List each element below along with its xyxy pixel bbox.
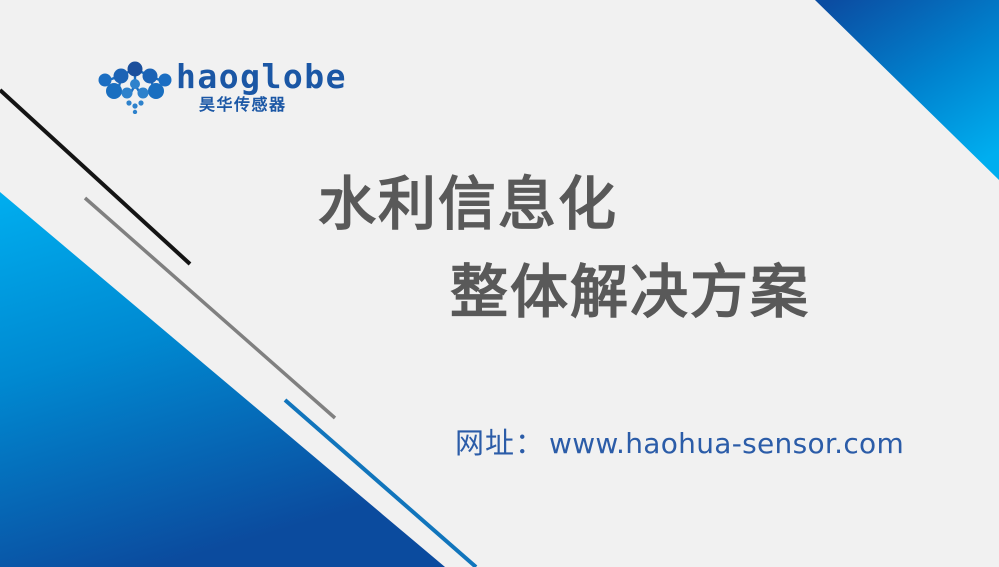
haoglobe-network-dots-icon (96, 60, 174, 114)
slide-root: haoglobe 昊华传感器 水利信息化 整体解决方案 网址：www.haohu… (0, 0, 999, 567)
website-url[interactable]: www.haohua-sensor.com (549, 427, 904, 460)
website-label: 网址： (455, 426, 545, 460)
page-title: 水利信息化 整体解决方案 (0, 160, 999, 336)
logo-wordmark: haoglobe (176, 58, 347, 96)
company-logo[interactable]: haoglobe 昊华传感器 (96, 58, 326, 120)
logo-subtitle-chinese: 昊华传感器 (199, 95, 287, 115)
title-line-2: 整体解决方案 (450, 248, 999, 336)
top-right-blue-triangle (815, 0, 999, 180)
title-line-1: 水利信息化 (318, 160, 999, 248)
website-line: 网址：www.haohua-sensor.com (455, 419, 904, 473)
